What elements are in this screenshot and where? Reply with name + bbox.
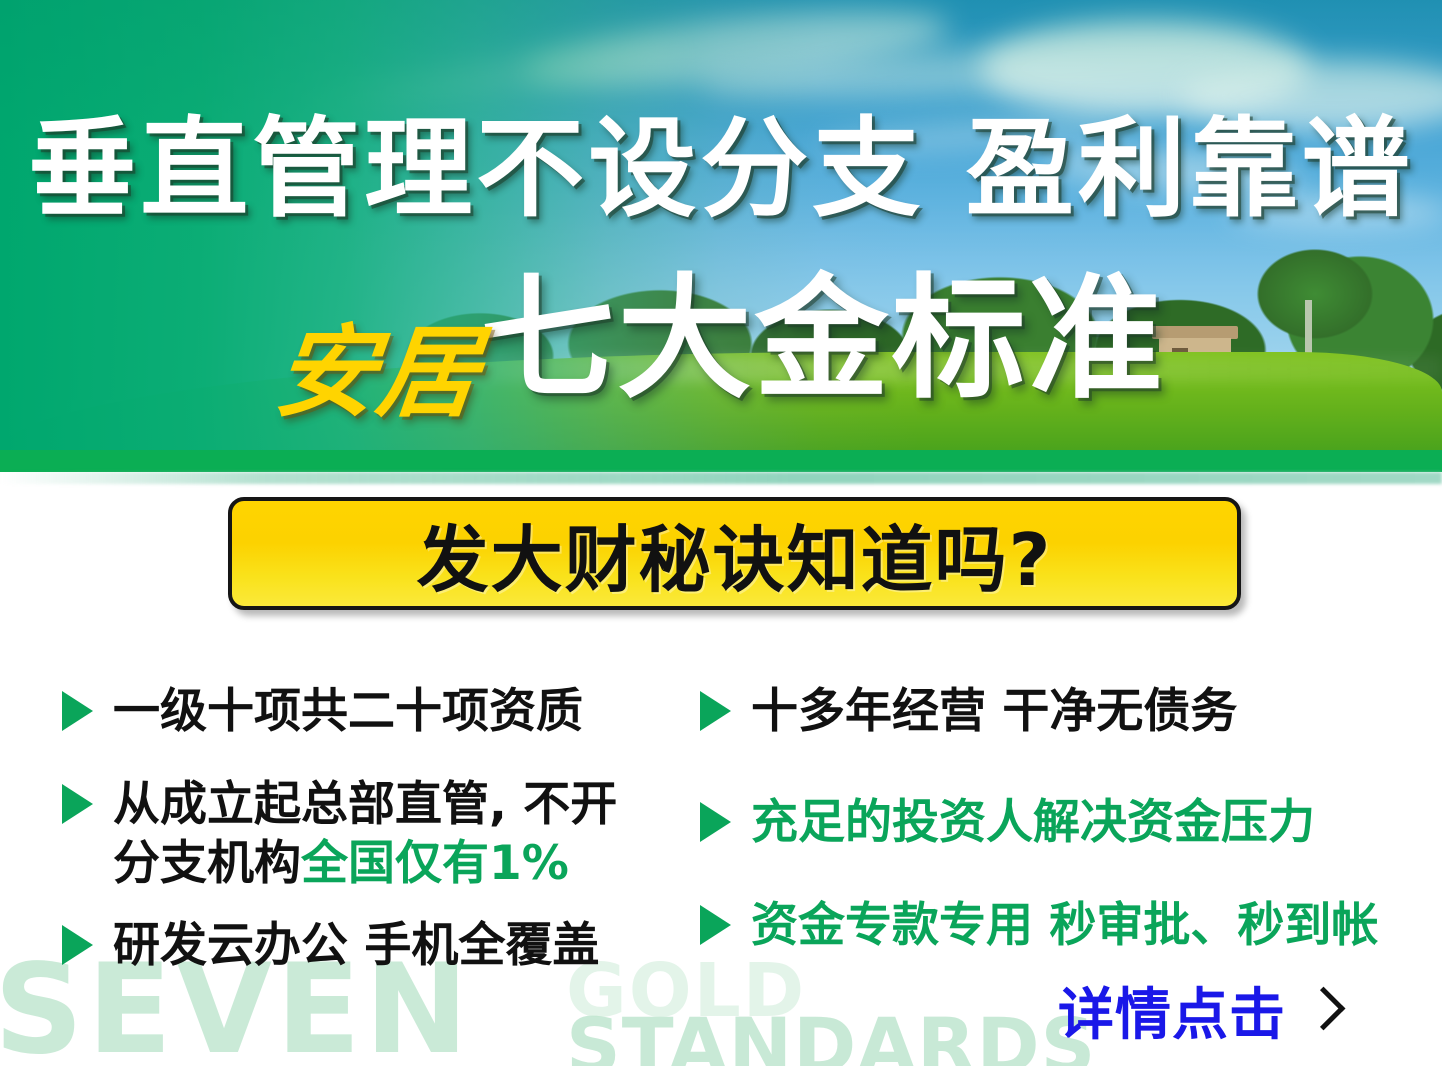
list-item: 充足的投资人解决资金压力: [700, 793, 1400, 852]
list-item: 研发云办公 手机全覆盖: [62, 916, 682, 975]
feature-text-line2-prefix: 分支机构: [113, 836, 301, 891]
triangle-bullet-icon: [62, 925, 93, 965]
feature-text: 十多年经营 干净无债务: [751, 682, 1237, 741]
triangle-bullet-icon: [62, 784, 93, 824]
advertisement-banner: 垂直管理不设分支 盈利靠谱 安居七大金标准 发大财秘诀知道吗? SEVEN GO…: [0, 0, 1442, 1066]
hero-headline-primary: 垂直管理不设分支 盈利靠谱: [0, 116, 1442, 224]
triangle-bullet-icon: [700, 905, 731, 945]
cta-yellow-bar-label: 发大财秘诀知道吗?: [417, 501, 1053, 606]
hero-bottom-band: [0, 450, 1442, 472]
feature-text-line1: 从成立起总部直管, 不开: [113, 777, 617, 832]
feature-column-left: 一级十项共二十项资质 从成立起总部直管, 不开 分支机构全国仅有1% 研发云办公…: [62, 660, 682, 975]
feature-column-right: 十多年经营 干净无债务 充足的投资人解决资金压力 资金专款专用 秒审批、秒到帐: [700, 660, 1400, 956]
feature-text: 一级十项共二十项资质: [113, 682, 583, 741]
feature-text: 研发云办公 手机全覆盖: [113, 916, 599, 975]
list-item: 一级十项共二十项资质: [62, 682, 682, 741]
feature-text: 充足的投资人解决资金压力: [751, 793, 1315, 852]
list-item: 从成立起总部直管, 不开 分支机构全国仅有1%: [62, 775, 682, 893]
chevron-right-icon: [1302, 987, 1346, 1031]
triangle-bullet-icon: [700, 691, 731, 731]
hero-section: 垂直管理不设分支 盈利靠谱 安居七大金标准: [0, 0, 1442, 472]
list-item: 十多年经营 干净无债务: [700, 682, 1400, 741]
hero-brand-name: 安居: [271, 323, 486, 423]
cta-yellow-bar[interactable]: 发大财秘诀知道吗?: [228, 497, 1241, 610]
feature-list-section: 一级十项共二十项资质 从成立起总部直管, 不开 分支机构全国仅有1% 研发云办公…: [0, 660, 1442, 1000]
triangle-bullet-icon: [62, 691, 93, 731]
triangle-bullet-icon: [700, 802, 731, 842]
hero-headline-standards: 七大金标准: [480, 272, 1165, 406]
list-item: 资金专款专用 秒审批、秒到帐: [700, 896, 1400, 955]
feature-text-highlight: 全国仅有1%: [301, 836, 569, 891]
detail-link[interactable]: 详情点击: [1058, 970, 1339, 1051]
detail-link-label: 详情点击: [1058, 970, 1286, 1051]
feature-text: 从成立起总部直管, 不开 分支机构全国仅有1%: [113, 775, 617, 893]
watermark-standards: STANDARDS: [566, 1008, 1096, 1066]
feature-text: 资金专款专用 秒审批、秒到帐: [751, 896, 1378, 955]
hero-band-shadow: [0, 472, 1442, 484]
hero-headline-secondary: 安居七大金标准: [0, 272, 1442, 406]
